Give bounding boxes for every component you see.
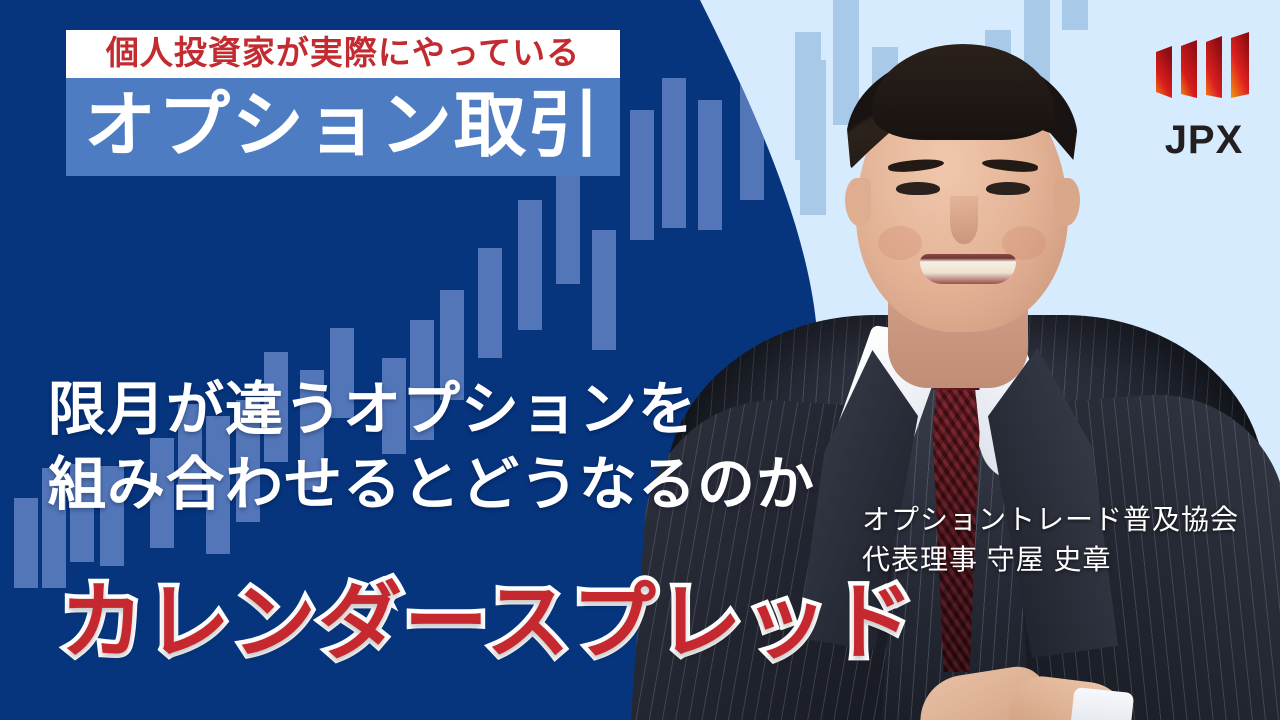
speaker-credit: オプショントレード普及協会 代表理事 守屋 史章	[862, 500, 1262, 580]
chart-bar	[14, 498, 38, 588]
badge-title-text: オプション取引	[66, 78, 620, 176]
headline: 限月が違うオプションを 組み合わせるとどうなるのか	[48, 372, 868, 523]
mouth-smiling	[920, 254, 1016, 284]
chart-bar	[478, 248, 502, 358]
cheek-left	[878, 226, 922, 260]
headline-line-1: 限月が違うオプションを	[48, 372, 868, 447]
shirt-cuff	[1070, 687, 1134, 720]
jpx-bars-mark	[1148, 28, 1260, 116]
chart-bar	[518, 200, 542, 330]
headline-line-2: 組み合わせるとどうなるのか	[48, 447, 868, 522]
chart-bar	[592, 230, 616, 350]
credit-name: 代表理事 守屋 史章	[862, 540, 1262, 580]
jpx-logo: JPX	[1148, 28, 1260, 168]
subtitle-keyword: カレンダースプレッド	[60, 578, 940, 667]
topic-badge: 個人投資家が実際にやっている オプション取引	[66, 30, 620, 176]
ear-right	[1054, 178, 1080, 226]
hair-top	[872, 44, 1054, 140]
credit-organization: オプショントレード普及協会	[862, 500, 1262, 540]
eye-right	[986, 182, 1030, 195]
chart-bar	[556, 164, 580, 284]
ear-left	[845, 178, 871, 226]
nose	[950, 196, 978, 244]
badge-eyebrow-text: 個人投資家が実際にやっている	[66, 30, 620, 78]
jpx-wordmark: JPX	[1148, 120, 1260, 160]
eye-left	[896, 182, 940, 195]
thumbnail-canvas: 個人投資家が実際にやっている オプション取引	[0, 0, 1280, 720]
